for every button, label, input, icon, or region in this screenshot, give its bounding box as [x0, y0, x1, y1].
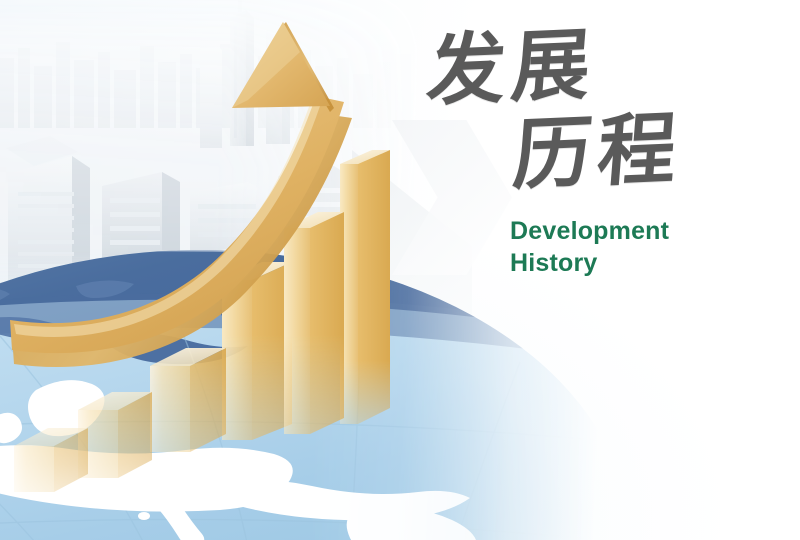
banner-canvas: 发展 历程 Development History: [0, 0, 800, 540]
title-block: 发展 历程 Development History: [424, 26, 764, 278]
bar-4: [284, 212, 344, 434]
title-english-line-1: Development: [510, 216, 764, 246]
title-chinese-line-1: 发展: [424, 19, 768, 112]
bar-5: [340, 150, 390, 424]
bar-2: [78, 392, 152, 478]
title-english-line-2: History: [510, 248, 764, 278]
bar-1: [14, 428, 88, 492]
title-chinese-line-2: 历程: [510, 107, 767, 196]
bar-0-rear: [222, 262, 292, 440]
bar-3: [150, 348, 226, 452]
